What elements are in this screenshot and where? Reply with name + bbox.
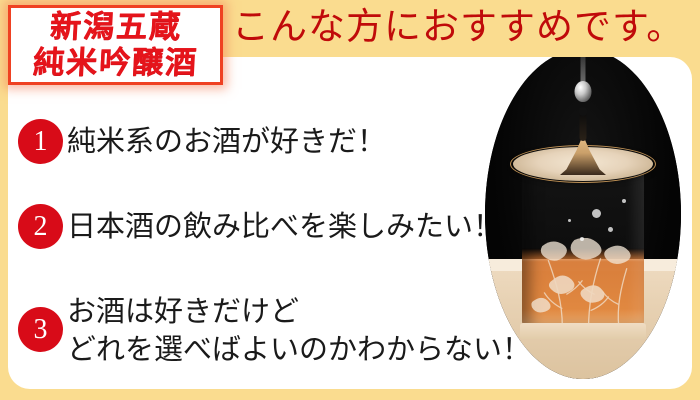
list-item-line1: 日本酒の飲み比べを楽しみたい！ [67, 211, 502, 243]
bubble [608, 227, 613, 232]
list-item: 3 お酒は好きだけど どれを選べばよいのかわからない！ [18, 289, 518, 369]
product-photo [463, 57, 692, 389]
recommendation-list: 1 純米系のお酒が好きだ！ 2 日本酒の飲み比べを楽しみたい！ 3 お酒は好きだ… [18, 119, 518, 369]
list-number-badge: 1 [18, 119, 63, 164]
list-item-text: 日本酒の飲み比べを楽しみたい！ [67, 204, 502, 246]
list-number-badge: 3 [18, 307, 63, 352]
product-badge: 新潟五蔵 純米吟醸酒 [8, 5, 223, 85]
list-item: 2 日本酒の飲み比べを楽しみたい！ [18, 204, 518, 249]
list-item-text: お酒は好きだけど どれを選べばよいのかわからない！ [67, 289, 531, 369]
floral-etching-icon [522, 238, 645, 329]
bubble [580, 237, 584, 241]
glass-foot [520, 323, 646, 339]
promotional-banner: こんな方におすすめです。 1 純米系のお酒が好きだ！ 2 日本酒の飲み比べを楽し… [0, 0, 700, 400]
list-number-badge: 2 [18, 204, 63, 249]
page-title: こんな方におすすめです。 [232, 2, 682, 54]
list-item-line1: 純米系のお酒が好きだ！ [67, 126, 386, 158]
list-item-line2: どれを選べばよいのかわからない！ [67, 331, 531, 369]
falling-droplet-icon [575, 81, 592, 102]
splash-bead [579, 107, 588, 116]
list-item: 1 純米系のお酒が好きだ！ [18, 119, 518, 164]
product-photo-ellipse-mask [485, 57, 681, 379]
bubble [622, 199, 626, 203]
bubble [592, 209, 601, 218]
content-panel: 1 純米系のお酒が好きだ！ 2 日本酒の飲み比べを楽しみたい！ 3 お酒は好きだ… [8, 57, 692, 389]
badge-line-1: 新潟五蔵 [49, 9, 183, 45]
badge-line-2: 純米吟醸酒 [32, 45, 199, 81]
list-item-line1: お酒は好きだけど [67, 296, 299, 328]
sake-glass [522, 161, 644, 329]
list-item-text: 純米系のお酒が好きだ！ [67, 119, 386, 161]
bubble [568, 219, 571, 222]
